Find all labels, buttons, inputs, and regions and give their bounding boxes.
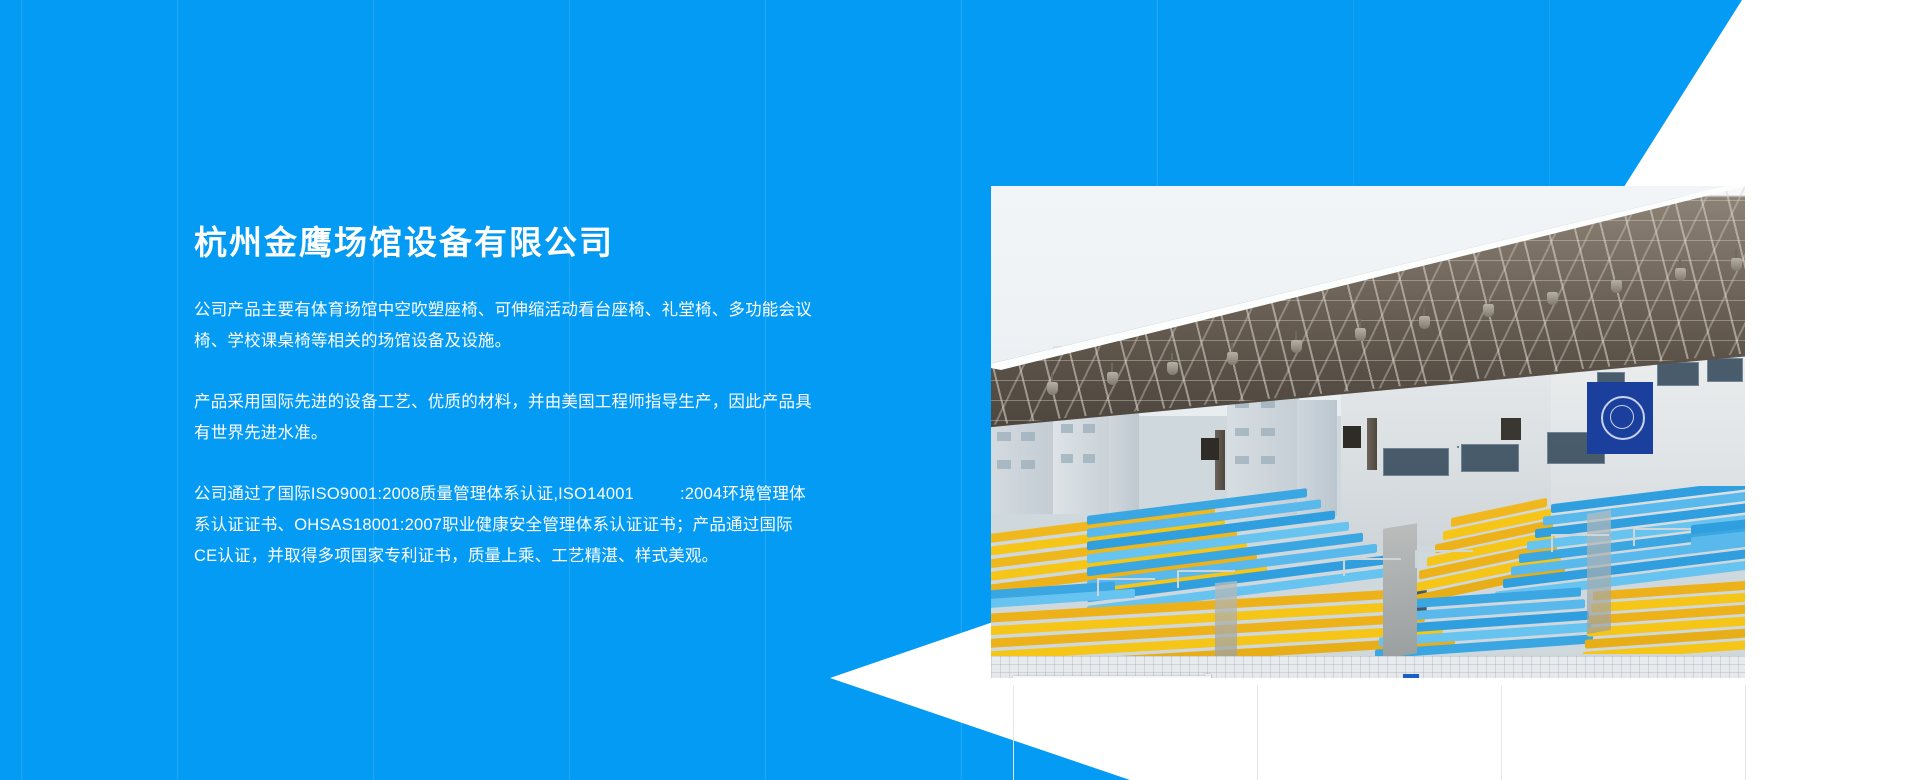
roof-lamp <box>1731 258 1742 271</box>
building-window <box>1383 448 1449 476</box>
roof-lamp <box>1227 352 1238 365</box>
building-window <box>1657 362 1699 386</box>
banner-seal-icon <box>1601 396 1645 440</box>
railing <box>1551 534 1609 552</box>
railing <box>1633 528 1691 546</box>
building-window <box>1457 446 1459 448</box>
roof-lamp <box>1107 372 1118 385</box>
soccer-goal <box>1009 672 1219 678</box>
certification-line-1: 公司通过了国际ISO9001:2008质量管理体系认证,ISO14001 <box>194 485 634 503</box>
goal-crossbar <box>1013 676 1211 678</box>
roof-lamp <box>1675 268 1686 281</box>
roof-lamp <box>1419 316 1430 329</box>
page-title: 杭州金鹰场馆设备有限公司 <box>194 225 814 261</box>
intro-paragraph-quality: 产品采用国际先进的设备工艺、优质的材料，并由美国工程师指导生产，因此产品具有世界… <box>194 387 814 449</box>
roof-support-column <box>1367 418 1377 470</box>
railing <box>1177 570 1235 588</box>
wall-sign <box>1403 674 1419 678</box>
building-window <box>1461 444 1519 472</box>
roof-lamp <box>1047 382 1058 395</box>
railing <box>1415 550 1473 568</box>
stadium-banner <box>1587 382 1653 454</box>
railing <box>1097 578 1155 596</box>
intro-paragraph-certifications: 公司通过了国际ISO9001:2008质量管理体系认证,ISO14001:200… <box>194 479 814 572</box>
hero-banner: 杭州金鹰场馆设备有限公司 公司产品主要有体育场馆中空吹塑座椅、可伸缩活动看台座椅… <box>0 0 1920 780</box>
stairway <box>1383 523 1417 658</box>
roof-lamp <box>1291 340 1302 353</box>
roof-lamp <box>1547 292 1558 305</box>
roof-lamp <box>1355 328 1366 341</box>
roof-lamp <box>1167 362 1178 375</box>
company-intro-copy: 杭州金鹰场馆设备有限公司 公司产品主要有体育场馆中空吹塑座椅、可伸缩活动看台座椅… <box>194 225 814 572</box>
speaker-box <box>1501 418 1521 440</box>
railing <box>1343 558 1401 576</box>
speaker-box <box>1201 438 1219 460</box>
intro-paragraph-products: 公司产品主要有体育场馆中空吹塑座椅、可伸缩活动看台座椅、礼堂椅、多功能会议椅、学… <box>194 295 814 357</box>
building-window <box>1707 358 1743 382</box>
stairway <box>1215 581 1237 663</box>
stadium-photo <box>991 186 1745 678</box>
roof-lamp <box>1483 304 1494 317</box>
stairway <box>1587 510 1611 634</box>
grandstand-seating <box>991 486 1745 678</box>
roof-lamp <box>1611 280 1622 293</box>
speaker-box <box>1343 426 1361 448</box>
